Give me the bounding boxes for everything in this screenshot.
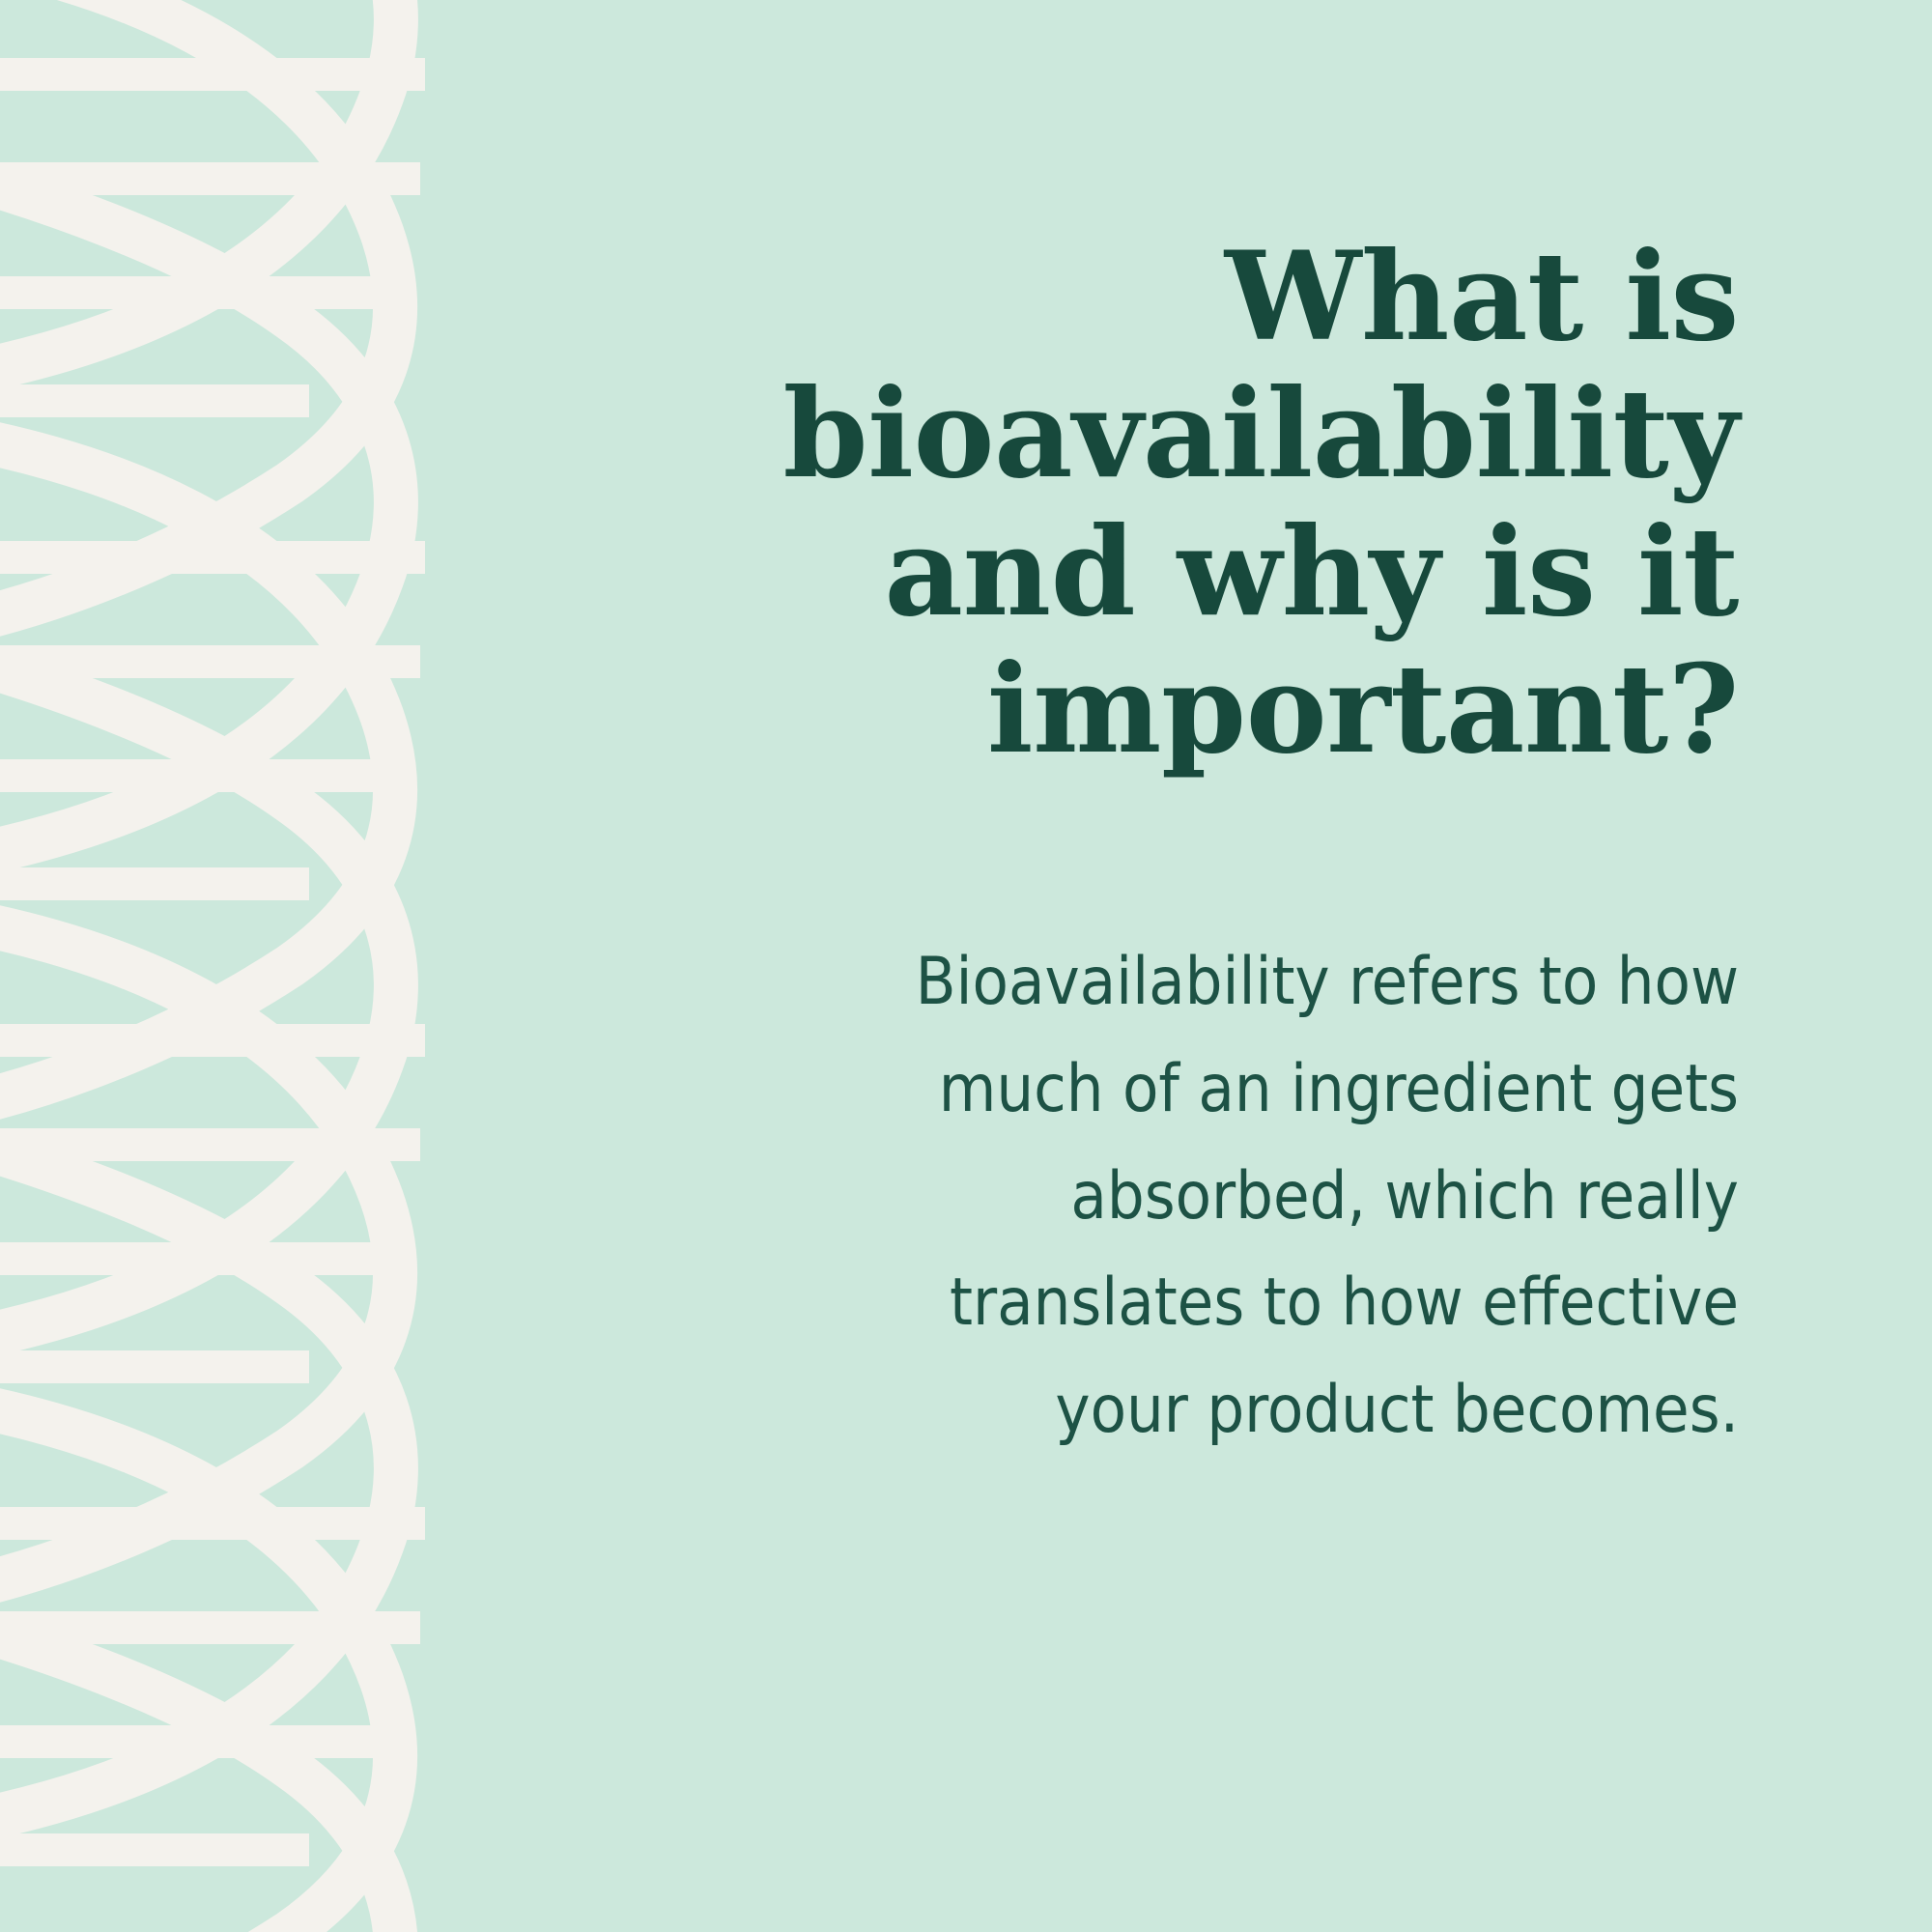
- dna-rungs: [0, 58, 425, 1866]
- page-title: What is bioavailability and why is it im…: [541, 228, 1739, 779]
- text-column: What is bioavailability and why is it im…: [541, 0, 1739, 1932]
- dna-strand-b: [0, 0, 396, 1932]
- dna-strand-a: [0, 0, 395, 1932]
- promo-card: What is bioavailability and why is it im…: [0, 0, 1932, 1932]
- body-paragraph: Bioavailability refers to how much of an…: [541, 929, 1739, 1464]
- dna-helix-icon: [0, 0, 454, 1932]
